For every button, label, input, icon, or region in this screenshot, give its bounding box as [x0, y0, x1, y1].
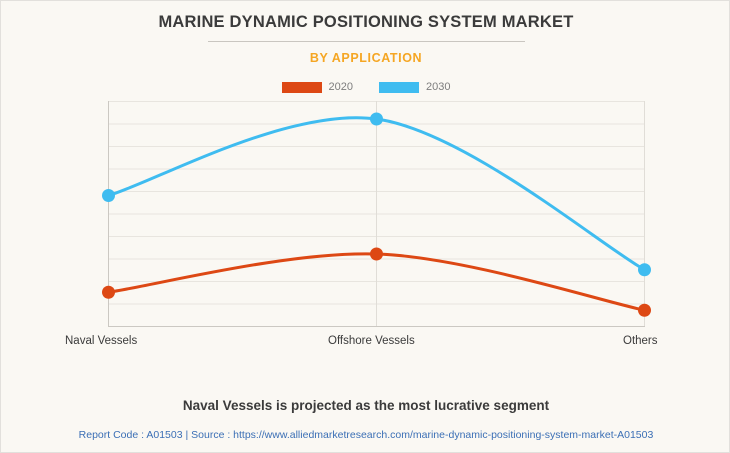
- data-point-2020-offshore-vessels[interactable]: [370, 248, 383, 261]
- x-tick-label-0: Naval Vessels: [65, 335, 137, 347]
- data-point-2030-naval-vessels[interactable]: [102, 189, 115, 202]
- source-line: Report Code : A01503 | Source : https://…: [1, 429, 730, 441]
- chart-card: MARINE DYNAMIC POSITIONING SYSTEM MARKET…: [0, 0, 730, 453]
- chart-caption: Naval Vessels is projected as the most l…: [1, 398, 730, 413]
- data-point-2020-naval-vessels[interactable]: [102, 286, 115, 299]
- x-tick-label-2: Others: [623, 335, 658, 347]
- x-tick-label-1: Offshore Vessels: [328, 335, 415, 347]
- data-point-2020-others[interactable]: [638, 304, 651, 317]
- data-point-2030-others[interactable]: [638, 263, 651, 276]
- data-point-2030-offshore-vessels[interactable]: [370, 113, 383, 126]
- plot-area: Naval Vessels Offshore Vessels Others: [1, 1, 730, 453]
- line-chart-svg: [1, 1, 730, 453]
